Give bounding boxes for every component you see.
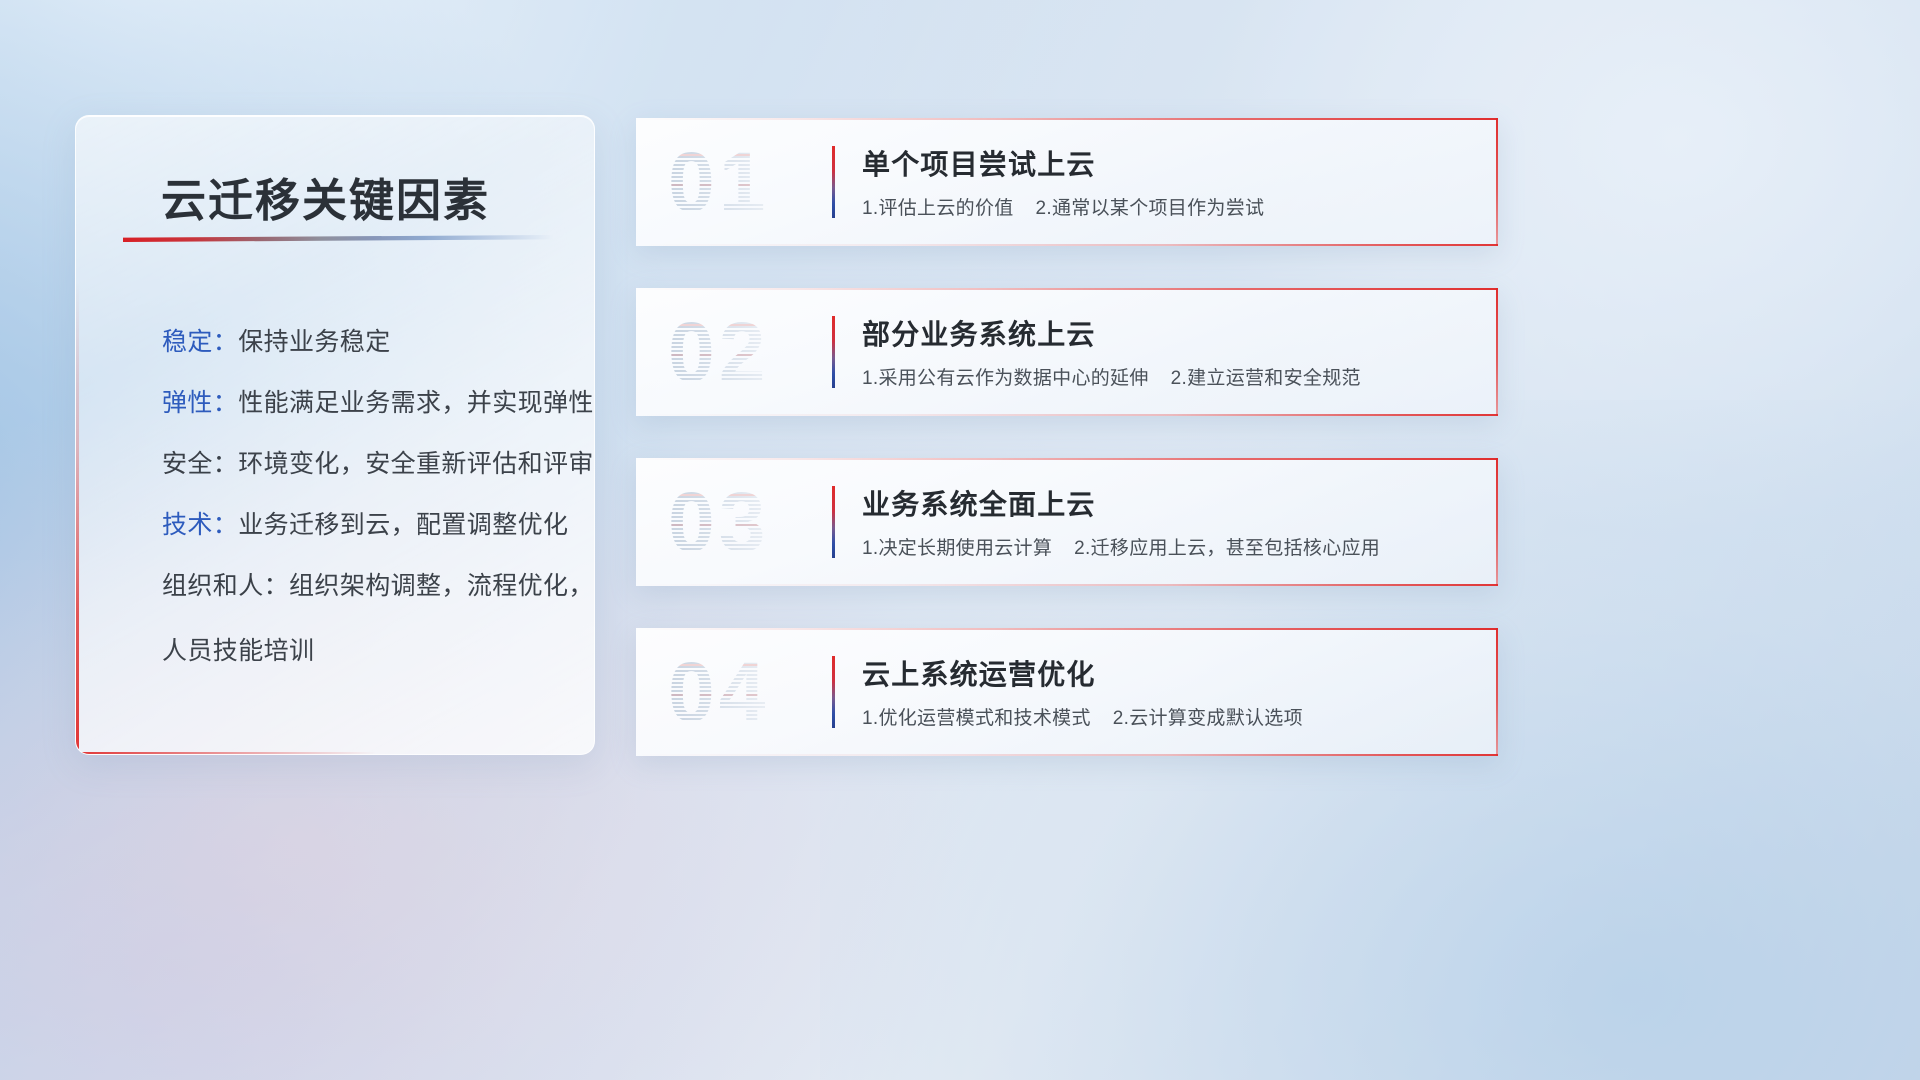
card-top-accent-line	[636, 458, 1498, 460]
stage-point-2: 2.迁移应用上云，甚至包括核心应用	[1074, 538, 1380, 559]
list-item-continuation: 人员技能培训	[162, 621, 582, 682]
list-item-label: 稳定：	[162, 328, 238, 356]
stage-number: 01	[668, 140, 769, 224]
list-item: 稳定：保持业务稳定	[162, 312, 582, 373]
stage-title: 业务系统全面上云	[862, 483, 1096, 523]
stage-number: 03	[668, 480, 769, 564]
list-item-text: 业务迁移到云，配置调整优化	[238, 511, 568, 539]
card-top-accent-line	[636, 288, 1498, 290]
stage-title: 部分业务系统上云	[862, 313, 1096, 353]
stage-description: 1.评估上云的价值2.通常以某个项目作为尝试	[862, 193, 1264, 220]
page-title: 云迁移关键因素	[161, 164, 490, 229]
card-bottom-accent-line	[636, 414, 1498, 416]
card-bottom-accent-line	[636, 244, 1498, 246]
card-right-accent-line	[1496, 628, 1498, 756]
stage-card-01[interactable]: 01 01 单个项目尝试上云 1.评估上云的价值2.通常以某个项目作为尝试	[636, 118, 1498, 246]
list-item-text: 保持业务稳定	[238, 328, 390, 356]
card-divider-bar	[832, 146, 835, 218]
list-item: 技术：业务迁移到云，配置调整优化	[162, 495, 582, 556]
key-factors-list: 稳定：保持业务稳定 弹性：性能满足业务需求，并实现弹性 安全：环境变化，安全重新…	[162, 312, 582, 682]
card-divider-bar	[832, 316, 835, 388]
list-item: 组织和人：组织架构调整，流程优化，	[162, 556, 582, 617]
list-item: 安全：环境变化，安全重新评估和评审	[162, 434, 582, 495]
list-item-label: 组织和人：	[162, 572, 289, 600]
list-item-label: 安全：	[162, 450, 238, 478]
stage-point-2: 2.通常以某个项目作为尝试	[1036, 198, 1265, 219]
card-right-accent-line	[1496, 118, 1498, 246]
list-item-text: 性能满足业务需求，并实现弹性	[238, 389, 594, 417]
panel-left-accent-bar	[76, 116, 79, 754]
card-bottom-accent-line	[636, 584, 1498, 586]
stage-point-2: 2.建立运营和安全规范	[1171, 368, 1361, 389]
card-right-accent-line	[1496, 458, 1498, 586]
stage-point-1: 1.决定长期使用云计算	[862, 538, 1052, 559]
list-item: 弹性：性能满足业务需求，并实现弹性	[162, 373, 582, 434]
stage-card-04[interactable]: 04 04 云上系统运营优化 1.优化运营模式和技术模式2.云计算变成默认选项	[636, 628, 1498, 756]
stage-card-03[interactable]: 03 03 业务系统全面上云 1.决定长期使用云计算2.迁移应用上云，甚至包括核…	[636, 458, 1498, 586]
stage-point-1: 1.优化运营模式和技术模式	[862, 708, 1091, 729]
stage-card-02[interactable]: 02 02 部分业务系统上云 1.采用公有云作为数据中心的延伸2.建立运营和安全…	[636, 288, 1498, 416]
list-item-text: 人员技能培训	[162, 637, 314, 665]
title-underline-gradient	[123, 235, 553, 242]
stage-description: 1.优化运营模式和技术模式2.云计算变成默认选项	[862, 703, 1303, 730]
list-item-label: 技术：	[162, 511, 238, 539]
list-item-text: 环境变化，安全重新评估和评审	[238, 450, 594, 478]
stage-number: 04	[668, 650, 769, 734]
card-divider-bar	[832, 656, 835, 728]
key-factors-panel: 云迁移关键因素 稳定：保持业务稳定 弹性：性能满足业务需求，并实现弹性 安全：环…	[75, 115, 595, 755]
card-right-accent-line	[1496, 288, 1498, 416]
card-top-accent-line	[636, 628, 1498, 630]
card-bottom-accent-line	[636, 754, 1498, 756]
stage-title: 云上系统运营优化	[862, 653, 1096, 693]
stage-point-2: 2.云计算变成默认选项	[1113, 708, 1303, 729]
slide-stage: 云迁移关键因素 稳定：保持业务稳定 弹性：性能满足业务需求，并实现弹性 安全：环…	[0, 0, 1920, 1080]
list-item-text: 组织架构调整，流程优化，	[289, 572, 594, 600]
stage-point-1: 1.评估上云的价值	[862, 198, 1014, 219]
panel-bottom-accent-bar	[76, 752, 376, 755]
stage-point-1: 1.采用公有云作为数据中心的延伸	[862, 368, 1149, 389]
card-divider-bar	[832, 486, 835, 558]
stage-title: 单个项目尝试上云	[862, 143, 1096, 183]
stage-description: 1.决定长期使用云计算2.迁移应用上云，甚至包括核心应用	[862, 533, 1380, 560]
stage-description: 1.采用公有云作为数据中心的延伸2.建立运营和安全规范	[862, 363, 1361, 390]
stage-number: 02	[668, 310, 769, 394]
list-item-label: 弹性：	[162, 389, 238, 417]
card-top-accent-line	[636, 118, 1498, 120]
